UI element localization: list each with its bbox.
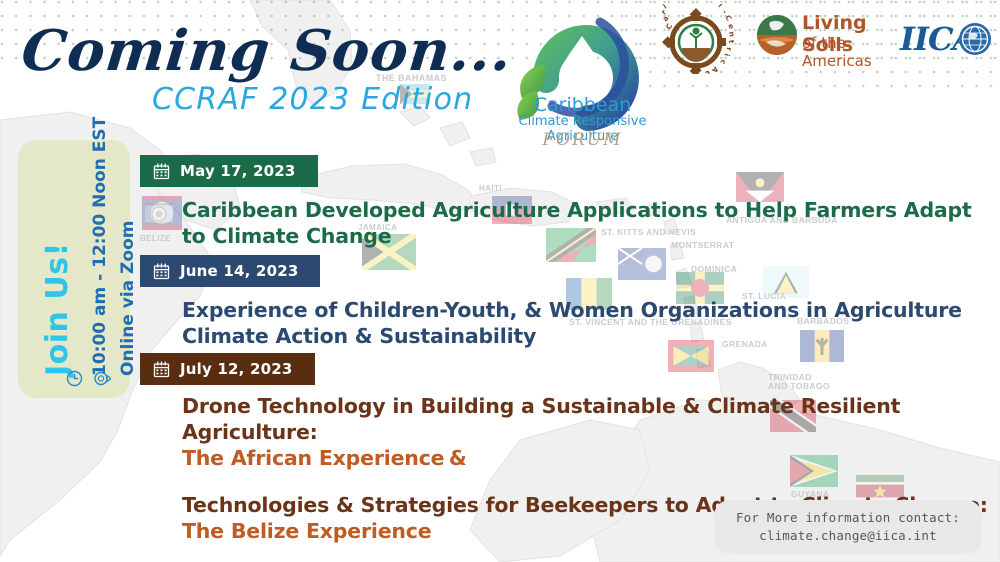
living-soils-globe-icon xyxy=(756,14,798,56)
calendar-icon xyxy=(153,163,170,180)
calendar-icon xyxy=(153,263,170,280)
svg-text:b: b xyxy=(665,4,673,5)
session-3-title-a: Drone Technology in Building a Sustainab… xyxy=(182,393,1000,445)
session-1: May 17, 2023 Caribbean Developed Agricul… xyxy=(140,155,318,187)
ccraf-logo-line1: Caribbean xyxy=(500,94,665,116)
session-3-date-badge: July 12, 2023 xyxy=(140,353,315,385)
session-3-subtitle-a: The African Experience xyxy=(182,446,444,470)
svg-text:t: t xyxy=(727,40,736,44)
svg-text:C: C xyxy=(723,13,733,22)
map-label: HAITI xyxy=(479,185,502,193)
living-soils-of-the-americas-logo: Living Soils of the Americas xyxy=(756,12,896,60)
poster-canvas: THE BAHAMASHAITIJAMAICABELIZEST. KITTS A… xyxy=(0,0,1000,562)
caribbean-soil-centric-actions-logo: C a r i b b e a n S o i l - C e n t r i xyxy=(648,4,744,74)
svg-text:i: i xyxy=(722,52,731,57)
iica-globe-icon xyxy=(958,22,992,56)
contact-box: For More information contact: climate.ch… xyxy=(714,500,982,554)
svg-text:c: c xyxy=(718,58,728,66)
session-3-date: July 12, 2023 xyxy=(180,360,293,378)
join-us-title: Join Us! xyxy=(40,242,75,376)
page-title: Coming Soon... xyxy=(19,18,516,84)
page-subtitle: CCRAF 2023 Edition xyxy=(152,82,473,117)
csca-gear-icon: C a r i b b e a n S o i l - C e n t r i xyxy=(648,4,744,74)
belize-flag-icon xyxy=(145,203,173,225)
ccraf-logo-line3: FORUM xyxy=(500,130,665,150)
session-1-date-badge: May 17, 2023 xyxy=(140,155,318,187)
contact-line-1: For More information contact: xyxy=(736,509,960,527)
montserrat-flag-icon xyxy=(618,248,666,280)
svg-text:e: e xyxy=(726,22,736,30)
clock-icon xyxy=(66,370,83,387)
session-1-title: Caribbean Developed Agriculture Applicat… xyxy=(182,197,1000,249)
session-1-date: May 17, 2023 xyxy=(180,162,296,180)
join-us-panel: Join Us! 10:00 am - 12:00 Noon EST Onlin… xyxy=(18,140,130,398)
session-2-date: June 14, 2023 xyxy=(180,262,298,280)
event-time-label: 10:00 am - 12:00 Noon EST xyxy=(90,117,110,376)
svg-text:r: r xyxy=(724,47,733,52)
map-label: BELIZE xyxy=(140,235,171,243)
svg-text:l: l xyxy=(717,4,725,9)
session-3: July 12, 2023 Drone Technology in Buildi… xyxy=(140,353,315,385)
map-label: TRINIDAD AND TOBAGO xyxy=(768,373,830,391)
zoom-camera-icon xyxy=(94,370,111,387)
event-mode-label: Online via Zoom xyxy=(118,221,138,376)
session-2-date-badge: June 14, 2023 xyxy=(140,255,320,287)
ccraf-logo: Caribbean Climate Responsive Agriculture… xyxy=(500,2,665,152)
calendar-icon xyxy=(153,361,170,378)
session-2: June 14, 2023 Experience of Children-You… xyxy=(140,255,320,287)
iica-logo: IICA xyxy=(900,20,992,58)
session-3-subtitle-a-row: The African Experience & xyxy=(182,445,1000,471)
stlucia-flag-icon xyxy=(763,266,809,298)
session-2-title: Experience of Children-Youth, & Women Or… xyxy=(182,297,1000,349)
contact-line-2: climate.change@iica.int xyxy=(736,527,960,545)
svg-text:n: n xyxy=(727,31,737,38)
session-3-conjunction: & xyxy=(449,446,467,470)
living-soils-subtitle: of the Americas xyxy=(802,34,896,70)
